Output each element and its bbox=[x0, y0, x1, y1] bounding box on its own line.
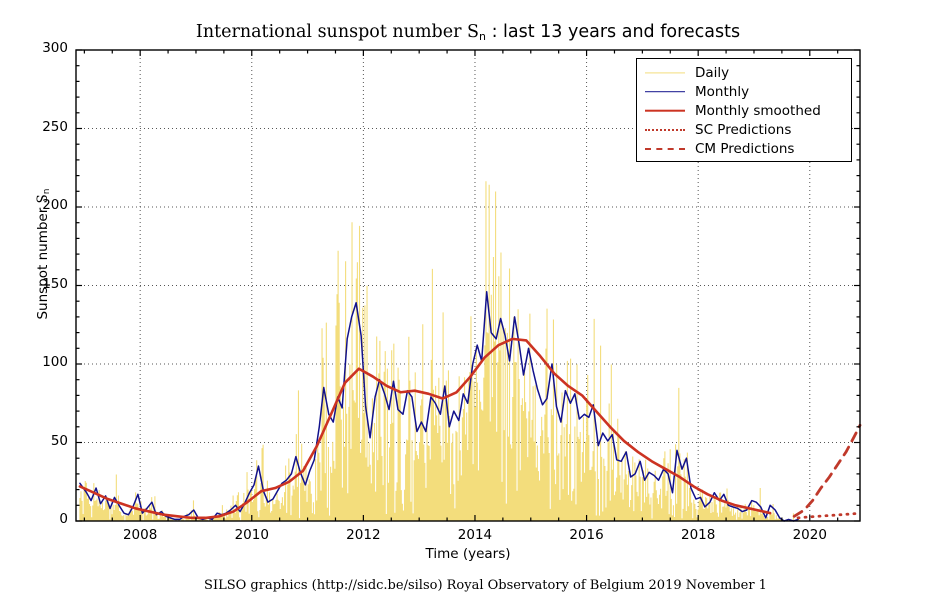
y-axis-tick-label: 50 bbox=[28, 433, 68, 449]
chart-title: International sunspot number Sn : last 1… bbox=[76, 22, 860, 42]
y-axis-label: Sunspot number Sn bbox=[35, 129, 51, 379]
legend-swatch-icon bbox=[643, 104, 687, 118]
x-axis-tick-label: 2016 bbox=[552, 527, 622, 543]
legend-label: Monthly smoothed bbox=[687, 103, 821, 119]
legend-entry-daily[interactable]: Daily bbox=[643, 63, 845, 82]
legend-swatch-icon bbox=[643, 66, 687, 80]
legend-swatch-icon bbox=[643, 85, 687, 99]
legend-entry-monthly-smoothed[interactable]: Monthly smoothed bbox=[643, 101, 845, 120]
x-axis-tick-label: 2018 bbox=[663, 527, 733, 543]
x-axis-tick-label: 2010 bbox=[217, 527, 287, 543]
chart-title-subscript: n bbox=[479, 30, 486, 43]
credit-text: SILSO graphics (http://sidc.be/silso) Ro… bbox=[180, 578, 767, 593]
legend-label: Daily bbox=[687, 65, 729, 81]
y-axis-tick-label: 150 bbox=[28, 276, 68, 292]
y-axis-tick-label: 300 bbox=[28, 40, 68, 56]
y-axis-tick-label: 250 bbox=[28, 119, 68, 135]
legend-entry-monthly[interactable]: Monthly bbox=[643, 82, 845, 101]
chart-title-main: International sunspot number S bbox=[196, 22, 479, 42]
x-axis-tick-label: 2014 bbox=[440, 527, 510, 543]
y-axis-tick-label: 200 bbox=[28, 197, 68, 213]
y-axis-tick-label: 0 bbox=[28, 511, 68, 527]
x-axis-label: Time (years) bbox=[76, 546, 860, 562]
legend-label: Monthly bbox=[687, 84, 749, 100]
x-axis-tick-label: 2012 bbox=[328, 527, 398, 543]
chart-title-tail: : last 13 years and forecasts bbox=[486, 22, 740, 42]
sunspot-chart-figure: International sunspot number Sn : last 1… bbox=[0, 0, 947, 600]
legend-label: SC Predictions bbox=[687, 122, 791, 138]
legend-label: CM Predictions bbox=[687, 141, 794, 157]
y-axis-label-subscript: n bbox=[42, 188, 52, 194]
credit-line: SILSO graphics (http://sidc.be/silso) Ro… bbox=[0, 578, 947, 593]
y-axis-label-text: Sunspot number bbox=[35, 203, 51, 319]
legend-entry-cm-predictions[interactable]: CM Predictions bbox=[643, 139, 845, 158]
legend-entry-sc-predictions[interactable]: SC Predictions bbox=[643, 120, 845, 139]
legend-swatch-icon bbox=[643, 123, 687, 137]
chart-legend: DailyMonthlyMonthly smoothedSC Predictio… bbox=[636, 58, 852, 162]
x-axis-tick-label: 2008 bbox=[105, 527, 175, 543]
y-axis-tick-label: 100 bbox=[28, 354, 68, 370]
x-axis-tick-label: 2020 bbox=[775, 527, 845, 543]
legend-swatch-icon bbox=[643, 142, 687, 156]
